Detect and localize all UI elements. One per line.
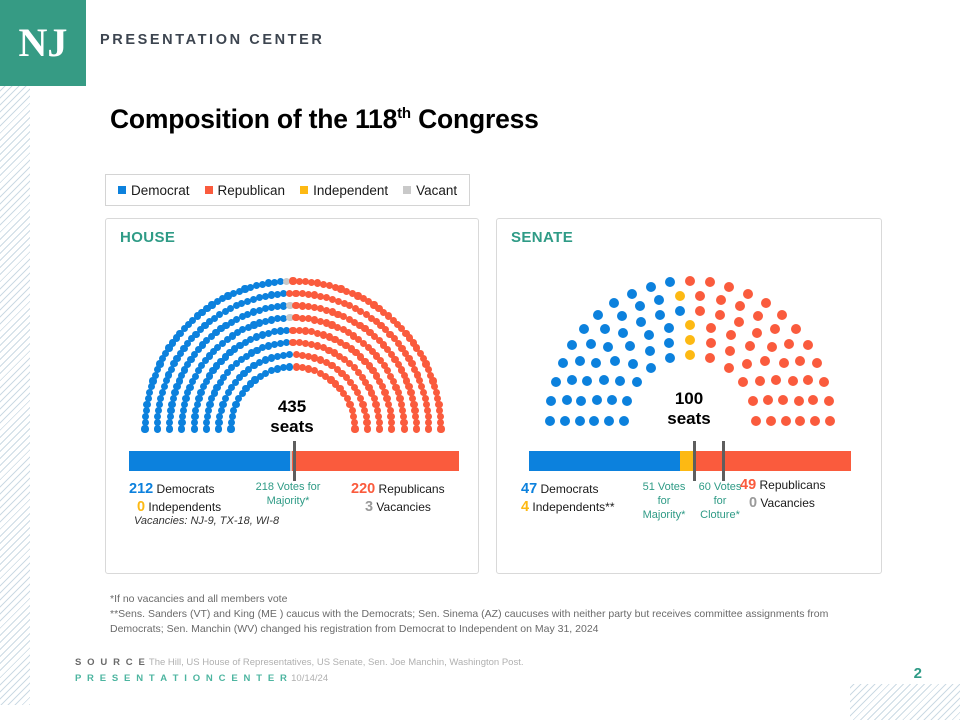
seat-dot [784,339,794,349]
house-panel-title: HOUSE [120,229,175,246]
page-title-tail: Congress [411,104,539,134]
seat-dot [599,375,609,385]
house-vacancies-label: Vacancies [376,500,430,514]
house-composition-bar [129,451,459,471]
seat-dot [675,306,685,316]
brand-logo: NJ [0,0,86,86]
seat-dot [706,323,716,333]
senate-majority-for: for [633,495,695,509]
legend-swatch-republican [205,186,213,194]
seat-dot [724,363,734,373]
senate-independents-label: Independents** [532,500,614,514]
seat-dot [567,340,577,350]
logo-text: NJ [19,23,68,63]
house-independents-value: 0 [137,499,145,515]
seat-dot [600,324,610,334]
senate-panel-title: SENATE [511,229,573,246]
seat-dot [705,277,715,287]
senate-republicans-figure: 49 Republicans [740,477,826,493]
house-independents-label: Independents [148,500,221,514]
seat-dot [819,377,829,387]
senate-vacancies-figure: 0 Vacancies [749,495,815,511]
senate-panel: SENATE 100 seats 47 Democrats 4 Independ… [496,218,882,574]
source-line: S O U R C E The Hill, US House of Repres… [75,655,523,671]
seat-dot [685,320,695,330]
legend-item-republican: Republican [205,183,286,198]
seat-dot [770,324,780,334]
senate-cloture-value: 60 Votes [689,481,751,495]
seat-dot [803,375,813,385]
seat-dot [644,330,654,340]
senate-democrats-value: 47 [521,481,537,497]
presentation-center-label: P R E S E N T A T I O N C E N T E R [75,673,288,684]
house-democrats-figure: 212 Democrats [129,481,215,497]
seat-dot [645,346,655,356]
seat-dot [579,324,589,334]
seat-dot [627,289,637,299]
senate-cloture-for: for [689,495,751,509]
seat-dot [618,328,628,338]
presentation-center-line: P R E S E N T A T I O N C E N T E R 10/1… [75,671,523,687]
house-center-label: 435 seats [106,397,478,436]
seat-dot [812,358,822,368]
house-democrats-label: Democrats [157,482,215,496]
house-vacancies-value: 3 [365,499,373,515]
seat-dot [558,358,568,368]
seat-dot [760,356,770,366]
seat-dot [567,375,577,385]
house-majority-tick [293,441,296,481]
seat-dot [791,324,801,334]
house-republicans-figure: 220 Republicans [351,481,445,497]
page-title: Composition of the 118th Congress [110,104,539,135]
senate-republicans-label: Republicans [759,478,825,492]
senate-cloture-tick [722,441,725,481]
senate-cloture-label: Cloture* [689,509,751,523]
page-title-main: Composition of the 118 [110,104,397,134]
seat-dot [742,359,752,369]
legend-swatch-independent [300,186,308,194]
seat-dot [593,310,603,320]
senate-total-number: 100 [497,389,881,409]
seat-dot [753,311,763,321]
senate-bar-independent [680,451,693,471]
footnote-line-2: **Sens. Sanders (VT) and King (ME ) cauc… [110,607,900,622]
senate-independents-figure: 4 Independents** [521,499,615,515]
seat-dot [738,377,748,387]
chart-legend: Democrat Republican Independent Vacant [105,174,470,206]
house-republicans-value: 220 [351,481,375,497]
senate-total-unit: seats [497,409,881,429]
senate-bar-democrat [529,451,680,471]
house-majority-annotation: 218 Votes for Majority* [240,481,336,509]
seat-dot [664,338,674,348]
seat-dot [655,310,665,320]
seat-dot [636,317,646,327]
seat-dot [685,350,695,360]
seat-dot [716,295,726,305]
seat-dot [615,376,625,386]
senate-majority-value: 51 Votes [633,481,695,495]
legend-item-independent: Independent [300,183,388,198]
seat-dot [725,346,735,356]
seat-dot [646,282,656,292]
seat-dot [551,377,561,387]
seat-dot [685,276,695,286]
house-panel: HOUSE 435 seats 212 Democrats 0 Independ… [105,218,479,574]
house-total-unit: seats [106,417,478,437]
seat-dot [675,291,685,301]
house-majority-value: 218 Votes for [240,481,336,495]
legend-swatch-vacant [403,186,411,194]
house-vacancies-figure: 3 Vacancies [365,499,431,515]
seat-dot [715,310,725,320]
house-republicans-label: Republicans [379,482,445,496]
senate-center-label: 100 seats [497,389,881,428]
legend-item-vacant: Vacant [403,183,457,198]
senate-majority-tick [693,441,696,481]
seat-dot [735,301,745,311]
seat-dot [706,338,716,348]
seat-dot [586,339,596,349]
senate-majority-annotation: 51 Votes for Majority* [633,481,695,522]
seat-dot [743,289,753,299]
seat-dot [745,341,755,351]
senate-democrats-figure: 47 Democrats [521,481,599,497]
decorative-hatch-left [0,85,30,705]
seat-dot [767,342,777,352]
house-bar-republican [292,451,459,471]
house-bar-democrat [129,451,290,471]
seat-dot [724,282,734,292]
seat-dot [665,277,675,287]
seat-dot [695,291,705,301]
seat-dot [610,356,620,366]
senate-bar-republican [693,451,851,471]
seat-dot [617,311,627,321]
senate-vacancies-label: Vacancies [760,496,814,510]
footnotes: *If no vacancies and all members vote **… [110,592,900,638]
seat-dot [582,376,592,386]
house-total-number: 435 [106,397,478,417]
senate-democrats-label: Democrats [540,482,598,496]
seat-dot [779,358,789,368]
senate-cloture-annotation: 60 Votes for Cloture* [689,481,751,522]
seat-dot [726,330,736,340]
seat-dot [771,375,781,385]
seat-dot [609,298,619,308]
legend-label-republican: Republican [218,183,286,198]
seat-dot [777,310,787,320]
seat-dot [665,353,675,363]
legend-item-democrat: Democrat [118,183,190,198]
footnote-line-3: Democrats; Sen. Manchin (WV) changed his… [110,622,900,637]
decorative-hatch-bottom-right [850,684,960,720]
seat-dot [628,359,638,369]
seat-dot [646,363,656,373]
seat-dot [635,301,645,311]
senate-majority-label: Majority* [633,509,695,523]
legend-label-vacant: Vacant [416,183,457,198]
source-footer: S O U R C E The Hill, US House of Repres… [75,655,523,687]
house-majority-label: Majority* [240,495,336,509]
seat-dot [803,340,813,350]
seat-dot [695,306,705,316]
seat-dot [632,377,642,387]
seat-dot [685,335,695,345]
source-label: S O U R C E [75,657,146,668]
house-vacancy-note: Vacancies: NJ-9, TX-18, WI-8 [134,515,279,527]
legend-label-democrat: Democrat [131,183,190,198]
seat-dot [705,353,715,363]
seat-dot [795,356,805,366]
page-title-ordinal: th [397,105,411,122]
legend-label-independent: Independent [313,183,388,198]
seat-dot [664,323,674,333]
seat-dot [755,376,765,386]
seat-dot [591,358,601,368]
footnote-line-1: *If no vacancies and all members vote [110,592,900,607]
house-democrats-value: 212 [129,481,153,497]
source-text: The Hill, US House of Representatives, U… [149,657,524,668]
seat-dot [603,342,613,352]
house-independents-figure: 0 Independents [137,499,221,515]
seat-dot [625,341,635,351]
senate-independents-value: 4 [521,499,529,515]
brand-name: PRESENTATION CENTER [100,32,324,48]
seat-dot [788,376,798,386]
senate-composition-bar [529,451,851,471]
seat-dot [761,298,771,308]
legend-swatch-democrat [118,186,126,194]
presentation-date: 10/14/24 [291,673,328,684]
seat-dot [171,389,178,396]
seat-dot [752,328,762,338]
seat-dot [654,295,664,305]
seat-dot [146,389,153,396]
seat-dot [197,389,204,396]
page-number: 2 [914,665,922,682]
seat-dot [734,317,744,327]
seat-dot [575,356,585,366]
